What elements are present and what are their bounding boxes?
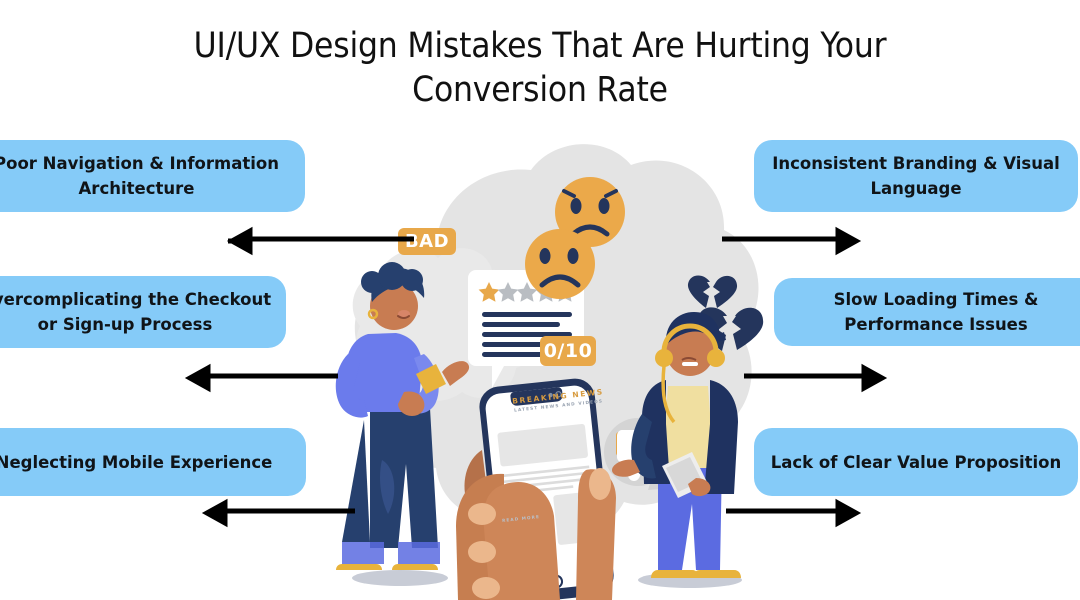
mistake-pill-slow-loading[interactable]: Slow Loading Times & Performance Issues bbox=[774, 278, 1080, 346]
arrow-right-1 bbox=[722, 230, 860, 252]
infographic-canvas: UI/UX Design Mistakes That Are Hurting Y… bbox=[0, 0, 1080, 600]
sad-face-icon bbox=[525, 229, 595, 299]
mistake-pill-overcomplicating-checkout[interactable]: Overcomplicating the Checkout or Sign-up… bbox=[0, 276, 286, 348]
mistake-pill-lack-of-value-proposition[interactable]: Lack of Clear Value Proposition bbox=[754, 428, 1078, 496]
arrow-left-1 bbox=[228, 230, 414, 252]
arrow-left-2 bbox=[186, 367, 338, 389]
score-badge: 0/10 bbox=[540, 336, 596, 366]
mistake-pill-neglecting-mobile[interactable]: Neglecting Mobile Experience bbox=[0, 428, 306, 496]
mistake-pill-inconsistent-branding[interactable]: Inconsistent Branding & Visual Language bbox=[754, 140, 1078, 212]
central-illustration: BAD 0/10 BREAKING NEWS LATEST NEWS AND V… bbox=[286, 130, 786, 600]
page-title: UI/UX Design Mistakes That Are Hurting Y… bbox=[150, 24, 930, 112]
arrow-left-3 bbox=[203, 502, 353, 524]
arrow-right-2 bbox=[744, 367, 886, 389]
mistake-pill-poor-navigation[interactable]: Poor Navigation & Information Architectu… bbox=[0, 140, 305, 212]
arrow-right-3 bbox=[726, 502, 860, 524]
